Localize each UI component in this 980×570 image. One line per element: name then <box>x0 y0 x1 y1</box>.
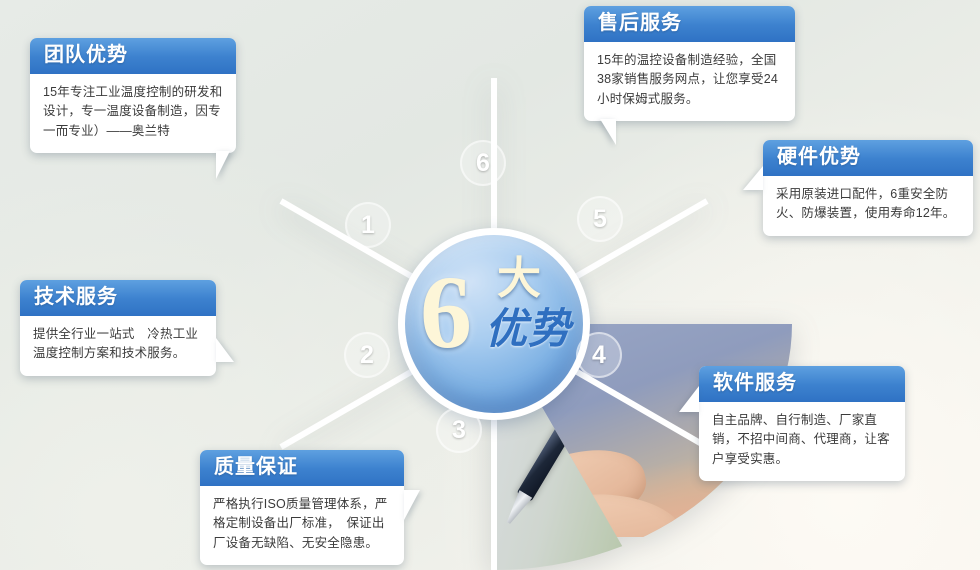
badge-4[interactable]: 4 <box>576 332 622 378</box>
callout-tail <box>216 151 230 179</box>
callout-card-team[interactable]: 团队优势 15年专注工业温度控制的研发和设计，专一温度设备制造，因专一而专业）—… <box>30 38 236 153</box>
badge-5-label: 5 <box>593 205 607 234</box>
badge-1-label: 1 <box>361 211 375 240</box>
callout-title-quality: 质量保证 <box>200 450 404 486</box>
badge-1[interactable]: 1 <box>345 202 391 248</box>
callout-tail <box>600 119 616 145</box>
callout-card-after-sales[interactable]: 售后服务 15年的温控设备制造经验，全国38家销售服务网点，让您享受24小时保姆… <box>584 6 795 121</box>
callout-body-after-sales: 15年的温控设备制造经验，全国38家销售服务网点，让您享受24小时保姆式服务。 <box>584 42 795 121</box>
badge-6-label: 6 <box>476 149 490 178</box>
badge-4-label: 4 <box>592 341 606 370</box>
infographic-canvas: iHTC <box>0 0 980 570</box>
callout-card-software[interactable]: 软件服务 自主品牌、自行制造、厂家直销，不招中间商、代理商，让客户享受实惠。 <box>699 366 905 481</box>
badge-6[interactable]: 6 <box>460 140 506 186</box>
callout-title-hardware: 硬件优势 <box>763 140 973 176</box>
badge-2-label: 2 <box>360 341 374 370</box>
callout-body-hardware: 采用原装进口配件，6重安全防火、防爆装置，使用寿命12年。 <box>763 176 973 236</box>
callout-tail <box>679 386 699 412</box>
callout-body-technical: 提供全行业一站式 冷热工业温度控制方案和技术服务。 <box>20 316 216 376</box>
callout-card-hardware[interactable]: 硬件优势 采用原装进口配件，6重安全防火、防爆装置，使用寿命12年。 <box>763 140 973 236</box>
center-number: 6 <box>420 261 472 365</box>
callout-body-software: 自主品牌、自行制造、厂家直销，不招中间商、代理商，让客户享受实惠。 <box>699 402 905 481</box>
callout-tail <box>404 490 420 520</box>
badge-5[interactable]: 5 <box>577 196 623 242</box>
callout-body-team: 15年专注工业温度控制的研发和设计，专一温度设备制造，因专一而专业）——奥兰特 <box>30 74 236 153</box>
badge-2[interactable]: 2 <box>344 332 390 378</box>
callout-card-technical[interactable]: 技术服务 提供全行业一站式 冷热工业温度控制方案和技术服务。 <box>20 280 216 376</box>
badge-3-label: 3 <box>452 416 466 445</box>
center-medallion: 6 大 优势 <box>398 228 590 420</box>
callout-title-software: 软件服务 <box>699 366 905 402</box>
callout-card-quality[interactable]: 质量保证 严格执行ISO质量管理体系，严格定制设备出厂标准， 保证出厂设备无缺陷… <box>200 450 404 565</box>
badge-3[interactable]: 3 <box>436 407 482 453</box>
center-youshi-text: 优势 <box>485 309 571 351</box>
callout-title-after-sales: 售后服务 <box>584 6 795 42</box>
center-da-char: 大 <box>497 257 541 301</box>
callout-title-team: 团队优势 <box>30 38 236 74</box>
callout-tail <box>743 166 763 190</box>
callout-title-technical: 技术服务 <box>20 280 216 316</box>
center-medallion-inner: 6 大 优势 <box>405 235 583 413</box>
callout-tail <box>216 338 234 362</box>
callout-body-quality: 严格执行ISO质量管理体系，严格定制设备出厂标准， 保证出厂设备无缺陷、无安全隐… <box>200 486 404 565</box>
